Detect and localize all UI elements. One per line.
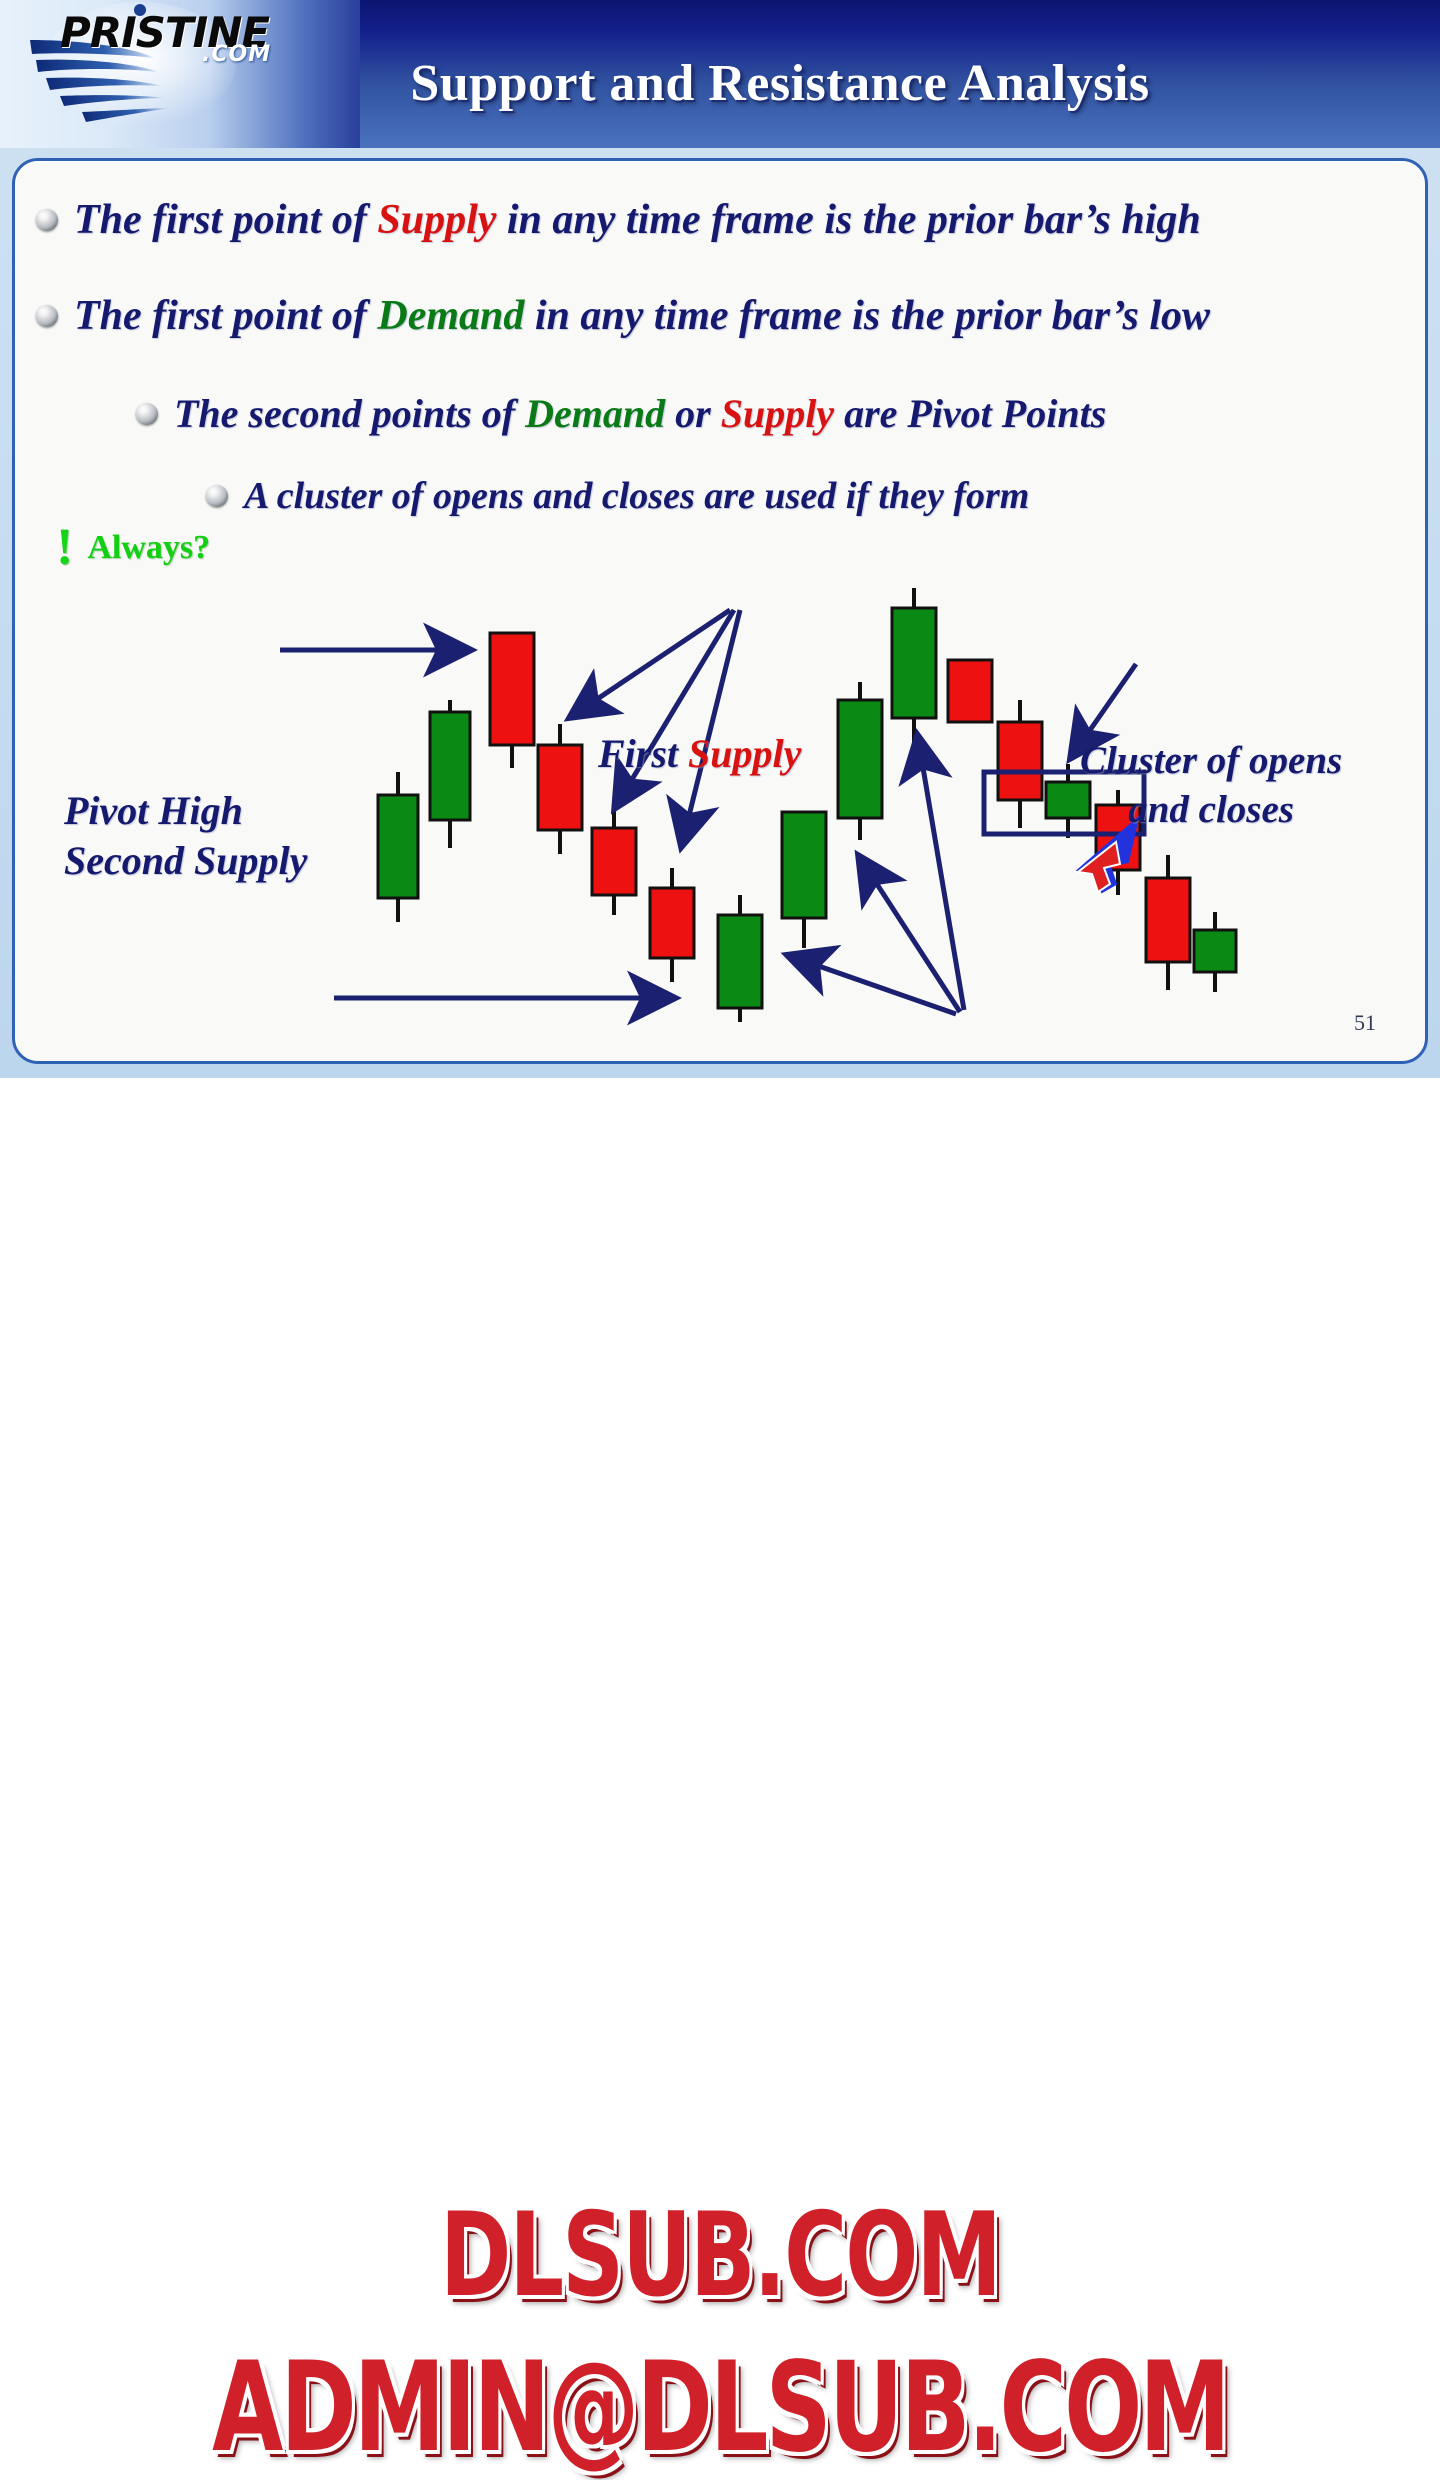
candle-body-up: [378, 795, 418, 898]
pristine-logo[interactable]: PRISTINE .COM: [22, 2, 302, 142]
candle-body-down: [1146, 878, 1190, 962]
watermark-site: DLSUB.COM: [0, 2189, 1440, 2324]
candle-body-up: [892, 608, 936, 718]
watermark-zone: DLSUB.COM ADMIN@DLSUB.COM: [0, 1078, 1440, 1440]
slide-page-number: 51: [1354, 1010, 1376, 1036]
candle-body-down: [490, 633, 534, 745]
candle-body-up: [838, 700, 882, 818]
candle-body-up: [718, 915, 762, 1008]
first-supply-prefix: First: [598, 731, 688, 776]
candle-body-down: [998, 722, 1042, 800]
watermark-email: ADMIN@DLSUB.COM: [0, 2335, 1440, 2479]
logo-com-suffix: .COM: [202, 42, 271, 67]
cluster-line2: and closes: [1080, 785, 1342, 834]
cluster-line1: Cluster of opens: [1080, 739, 1342, 782]
candle-body-down: [650, 888, 694, 958]
label-first-supply: First Supply: [598, 730, 801, 777]
candle-body-down: [538, 745, 582, 830]
arrow-first-demand-1: [918, 738, 964, 1010]
candlestick-svg: [12, 158, 1422, 1058]
first-supply-word: Supply: [688, 731, 801, 776]
slide: PRISTINE .COM Support and Resistance Ana…: [0, 0, 1440, 1078]
candle-body-up: [430, 712, 470, 820]
candle-body-up: [1194, 930, 1236, 972]
label-pivot-high: Pivot High Second Supply: [64, 786, 307, 885]
page-title: Support and Resistance Analysis: [300, 54, 1260, 113]
arrow-first-supply-1: [572, 610, 730, 716]
candle-body-down: [948, 660, 992, 722]
candle-body-up: [782, 812, 826, 918]
candlestick-chart: Pivot High Second Supply First Supply Cl…: [12, 158, 1422, 1058]
slide-root: PRISTINE .COM Support and Resistance Ana…: [0, 0, 1440, 1440]
label-cluster: Cluster of opens and closes: [1080, 736, 1342, 834]
pivot-high-line2: Second Supply: [64, 836, 307, 886]
candle-body-down: [592, 828, 636, 895]
pivot-high-line1: Pivot High: [64, 788, 243, 833]
arrow-first-demand-2: [860, 858, 960, 1012]
